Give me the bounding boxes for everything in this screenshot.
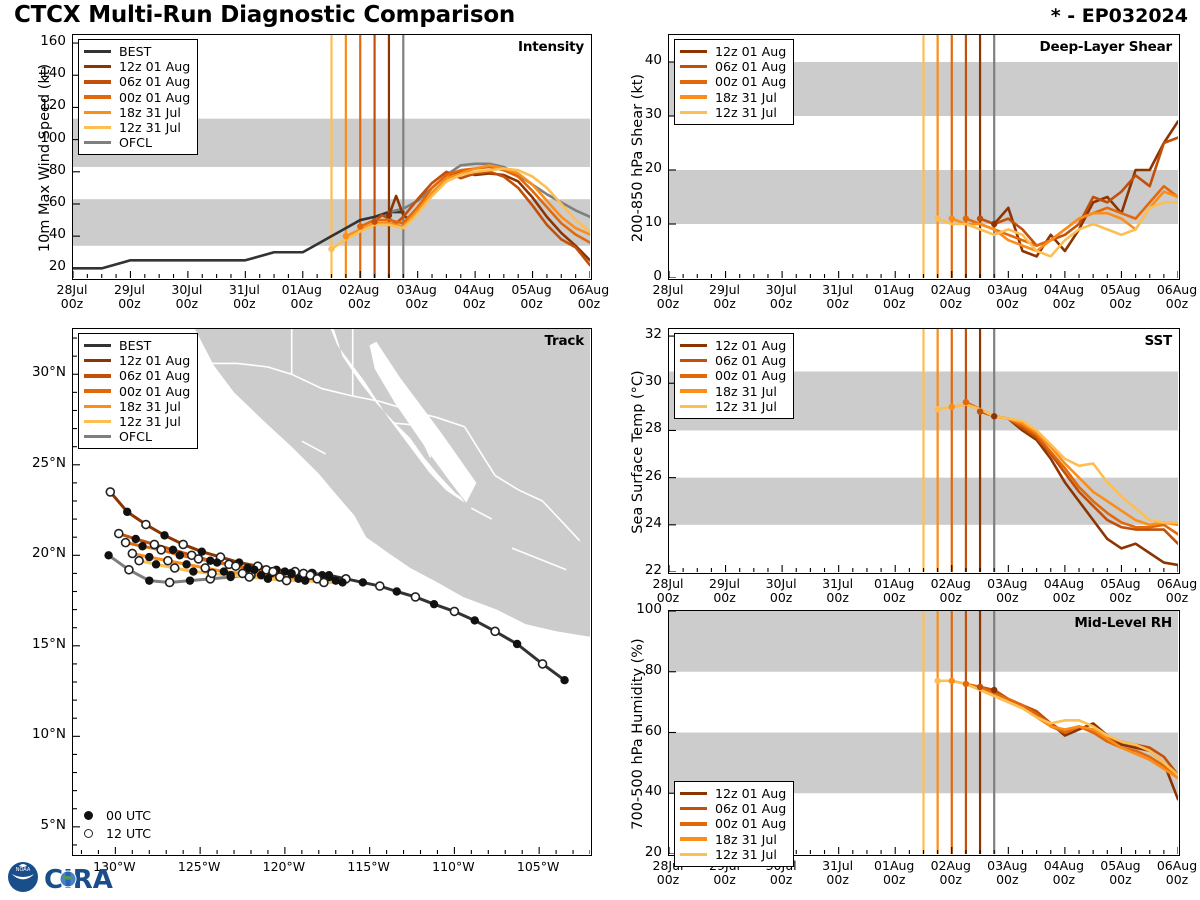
legend-item-18z-31-jul[interactable]: 18z 31 Jul <box>680 832 786 847</box>
track-point-00utc <box>560 676 568 684</box>
y-tick-label: 120 <box>14 97 66 113</box>
y-tick-label: 20 <box>14 258 66 274</box>
legend-item-12z-31-jul[interactable]: 12z 31 Jul <box>680 847 786 862</box>
series-init-point <box>357 223 363 229</box>
panel-title-rh: Mid-Level RH <box>1074 615 1172 631</box>
panel-title-track: Track <box>545 333 584 349</box>
track-point-00utc <box>471 616 479 624</box>
legend-item-18z-31-jul[interactable]: 18z 31 Jul <box>84 399 190 414</box>
track-point-12utc <box>208 569 216 577</box>
legend-swatch <box>680 359 707 362</box>
series-init-point <box>991 687 997 693</box>
legend-item-06z-01-aug[interactable]: 06z 01 Aug <box>84 368 190 383</box>
legend-item-12z-31-jul[interactable]: 12z 31 Jul <box>84 120 190 135</box>
y-tick-label: 80 <box>14 162 66 178</box>
legend-label: 12z 31 Jul <box>119 414 181 429</box>
legend-item-00z-01-aug[interactable]: 00z 01 Aug <box>84 90 190 105</box>
legend-item-12z-01-aug[interactable]: 12z 01 Aug <box>84 59 190 74</box>
legend-item-best[interactable]: BEST <box>84 44 190 59</box>
legend-label: BEST <box>119 338 151 353</box>
y-tick-label: 40 <box>610 783 662 799</box>
legend-label: 06z 01 Aug <box>715 59 786 74</box>
panel-title-sst: SST <box>1145 333 1172 349</box>
diagnostic-comparison-page: CTCX Multi-Run Diagnostic Comparison * -… <box>0 0 1200 900</box>
legend-item-12z-31-jul[interactable]: 12z 31 Jul <box>680 399 786 414</box>
legend-swatch <box>680 80 707 83</box>
legend-label: 18z 31 Jul <box>119 105 181 120</box>
legend-swatch <box>680 374 707 377</box>
y-tick-label: 24 <box>610 515 662 531</box>
series-init-point <box>963 215 969 221</box>
legend-label: 00z 01 Aug <box>715 74 786 89</box>
track-point-00utc <box>145 576 153 584</box>
legend-swatch <box>680 344 707 347</box>
legend-item-12z-31-jul[interactable]: 12z 31 Jul <box>680 105 786 120</box>
panel-title-shear: Deep-Layer Shear <box>1040 39 1172 55</box>
series-init-point <box>949 215 955 221</box>
legend-label: 12z 31 Jul <box>715 847 777 862</box>
legend-label: 18z 31 Jul <box>119 399 181 414</box>
axis-label-sst-y: Sea Surface Temp (°C) <box>630 332 646 572</box>
track-point-12utc <box>128 549 136 557</box>
legend-label: OFCL <box>119 429 152 444</box>
legend-item-12z-01-aug[interactable]: 12z 01 Aug <box>680 338 786 353</box>
legend-swatch <box>84 435 111 438</box>
legend-label: 18z 31 Jul <box>715 384 777 399</box>
track-point-00utc <box>430 600 438 608</box>
y-tick-label: 40 <box>610 52 662 68</box>
track-point-00utc <box>138 542 146 550</box>
series-init-point <box>977 215 983 221</box>
track-point-00utc <box>226 571 234 579</box>
legend-swatch <box>680 853 707 856</box>
y-tick-label: 20°N <box>4 545 66 561</box>
noaa-logo: NOAA <box>8 862 38 892</box>
legend-sst[interactable]: 12z 01 Aug06z 01 Aug00z 01 Aug18z 31 Jul… <box>674 333 794 419</box>
legend-label: 00z 01 Aug <box>119 384 190 399</box>
track-point-12utc <box>232 562 240 570</box>
track-point-00utc <box>338 578 346 586</box>
track-point-00utc <box>189 567 197 575</box>
track-point-12utc <box>539 660 547 668</box>
legend-shear[interactable]: 12z 01 Aug06z 01 Aug00z 01 Aug18z 31 Jul… <box>674 39 794 125</box>
legend-swatch <box>84 420 111 423</box>
series-init-point <box>343 233 349 239</box>
legend-item-12z-31-jul[interactable]: 12z 31 Jul <box>84 414 190 429</box>
legend-label: 00z 01 Aug <box>119 90 190 105</box>
axis-label-shear-y: 200-850 hPa Shear (kt) <box>630 38 646 278</box>
legend-swatch <box>84 374 111 377</box>
series-init-point <box>991 413 997 419</box>
track-point-00utc <box>104 551 112 559</box>
track-point-00utc <box>264 575 272 583</box>
series-init-point <box>328 246 334 252</box>
y-tick-label: 26 <box>610 468 662 484</box>
y-tick-label: 25°N <box>4 455 66 471</box>
legend-label: 18z 31 Jul <box>715 832 777 847</box>
svg-text:CIRA: CIRA <box>44 865 113 895</box>
legend-label: 12z 01 Aug <box>119 353 190 368</box>
track-point-12utc <box>135 557 143 565</box>
legend-swatch <box>84 111 111 114</box>
series-init-point <box>949 678 955 684</box>
track-point-12utc <box>283 577 291 585</box>
legend-track[interactable]: BEST12z 01 Aug06z 01 Aug00z 01 Aug18z 31… <box>78 333 198 449</box>
legend-item-18z-31-jul[interactable]: 18z 31 Jul <box>84 105 190 120</box>
legend-item-00z-01-aug[interactable]: 00z 01 Aug <box>680 816 786 831</box>
legend-label: 18z 31 Jul <box>715 90 777 105</box>
x-tick-label: 120°W <box>250 860 318 874</box>
legend-label: 12z 31 Jul <box>715 105 777 120</box>
track-point-00utc <box>169 546 177 554</box>
legend-swatch <box>84 95 111 98</box>
series-init-point <box>991 221 997 227</box>
y-tick-label: 20 <box>610 160 662 176</box>
track-point-00utc <box>152 560 160 568</box>
track-point-00utc <box>145 553 153 561</box>
track-point-00utc <box>176 551 184 559</box>
legend-label: 00z 01 Aug <box>715 368 786 383</box>
legend-item-18z-31-jul[interactable]: 18z 31 Jul <box>680 90 786 105</box>
marker-legend-item-12-utc: 12 UTC <box>82 824 151 842</box>
series-init-point <box>977 408 983 414</box>
legend-swatch <box>680 111 707 114</box>
legend-label: 06z 01 Aug <box>715 801 786 816</box>
legend-swatch <box>84 50 111 53</box>
marker-legend-label: 00 UTC <box>106 808 151 823</box>
x-tick-label: 06Aug00z <box>1143 283 1200 312</box>
legend-item-00z-01-aug[interactable]: 00z 01 Aug <box>84 384 190 399</box>
x-tick-label: 06Aug00z <box>1143 577 1200 606</box>
x-tick-label: 105°W <box>504 860 572 874</box>
panel-title-intensity: Intensity <box>518 39 584 55</box>
track-point-00utc <box>250 566 258 574</box>
track-point-12utc <box>164 557 172 565</box>
legend-swatch <box>84 344 111 347</box>
legend-label: 06z 01 Aug <box>119 74 190 89</box>
series-init-point <box>371 218 377 224</box>
y-tick-label: 30 <box>610 106 662 122</box>
track-point-12utc <box>376 582 384 590</box>
legend-label: BEST <box>119 44 151 59</box>
x-tick-label: 06Aug00z <box>1143 859 1200 888</box>
cira-logo: CIRA <box>44 865 113 895</box>
y-tick-label: 5°N <box>4 817 66 833</box>
legend-item-12z-01-aug[interactable]: 12z 01 Aug <box>680 786 786 801</box>
legend-label: 00z 01 Aug <box>715 816 786 831</box>
legend-swatch <box>680 95 707 98</box>
y-tick-label: 30°N <box>4 364 66 380</box>
y-tick-label: 140 <box>14 65 66 81</box>
track-point-12utc <box>491 627 499 635</box>
x-tick-label: 115°W <box>335 860 403 874</box>
series-init-point <box>949 404 955 410</box>
legend-swatch <box>84 141 111 144</box>
track-point-00utc <box>513 640 521 648</box>
legend-item-06z-01-aug[interactable]: 06z 01 Aug <box>680 801 786 816</box>
track-point-12utc <box>450 607 458 615</box>
series-init-point <box>934 678 940 684</box>
marker-legend-item-00-utc: 00 UTC <box>82 806 151 824</box>
legend-item-18z-31-jul[interactable]: 18z 31 Jul <box>680 384 786 399</box>
x-tick-label: 06Aug00z <box>555 283 623 312</box>
series-init-point <box>934 406 940 412</box>
legend-item-12z-01-aug[interactable]: 12z 01 Aug <box>680 44 786 59</box>
track-point-00utc <box>213 558 221 566</box>
track-point-00utc <box>359 578 367 586</box>
track-point-00utc <box>132 535 140 543</box>
y-tick-label: 100 <box>14 130 66 146</box>
legend-item-12z-01-aug[interactable]: 12z 01 Aug <box>84 353 190 368</box>
legend-swatch <box>84 359 111 362</box>
track-point-12utc <box>115 530 123 538</box>
track-point-12utc <box>194 555 202 563</box>
track-point-12utc <box>411 593 419 601</box>
track-point-12utc <box>320 578 328 586</box>
legend-label: 06z 01 Aug <box>119 368 190 383</box>
legend-track-markers: 00 UTC12 UTC <box>82 806 151 842</box>
track-point-12utc <box>179 540 187 548</box>
y-tick-label: 15°N <box>4 636 66 652</box>
marker-open-icon <box>84 829 93 838</box>
track-point-12utc <box>125 566 133 574</box>
legend-swatch <box>84 389 111 392</box>
legend-item-06z-01-aug[interactable]: 06z 01 Aug <box>84 74 190 89</box>
track-point-00utc <box>186 576 194 584</box>
y-tick-label: 30 <box>610 373 662 389</box>
legend-swatch <box>680 389 707 392</box>
marker-filled-icon <box>84 811 93 820</box>
x-tick-label: 125°W <box>165 860 233 874</box>
legend-item-06z-01-aug[interactable]: 06z 01 Aug <box>680 353 786 368</box>
storm-id-label: * - EP032024 <box>1051 5 1188 27</box>
legend-intensity[interactable]: BEST12z 01 Aug06z 01 Aug00z 01 Aug18z 31… <box>78 39 198 155</box>
legend-label: OFCL <box>119 135 152 150</box>
series-init-point <box>963 681 969 687</box>
y-tick-label: 32 <box>610 326 662 342</box>
track-point-12utc <box>122 539 130 547</box>
legend-swatch <box>680 50 707 53</box>
legend-swatch <box>680 837 707 840</box>
legend-item-06z-01-aug[interactable]: 06z 01 Aug <box>680 59 786 74</box>
track-point-00utc <box>301 576 309 584</box>
legend-item-00z-01-aug[interactable]: 00z 01 Aug <box>680 368 786 383</box>
legend-swatch <box>680 65 707 68</box>
track-point-00utc <box>182 560 190 568</box>
track-point-00utc <box>160 531 168 539</box>
legend-item-ofcl[interactable]: OFCL <box>84 429 190 444</box>
legend-swatch <box>84 126 111 129</box>
track-point-00utc <box>123 508 131 516</box>
legend-swatch <box>680 822 707 825</box>
legend-swatch <box>84 405 111 408</box>
track-point-12utc <box>245 573 253 581</box>
y-tick-label: 100 <box>610 601 662 617</box>
y-tick-label: 40 <box>14 226 66 242</box>
y-tick-label: 60 <box>14 194 66 210</box>
legend-label: 12z 31 Jul <box>715 399 777 414</box>
series-init-point <box>934 215 940 221</box>
legend-swatch <box>680 792 707 795</box>
legend-label: 12z 01 Aug <box>715 786 786 801</box>
track-point-00utc <box>393 587 401 595</box>
legend-swatch <box>84 80 111 83</box>
y-tick-label: 10 <box>610 214 662 230</box>
y-tick-label: 10°N <box>4 726 66 742</box>
legend-swatch <box>680 405 707 408</box>
svg-text:NOAA: NOAA <box>16 867 31 873</box>
track-point-00utc <box>287 569 295 577</box>
track-point-12utc <box>142 521 150 529</box>
legend-label: 12z 01 Aug <box>119 59 190 74</box>
track-point-12utc <box>166 578 174 586</box>
legend-label: 12z 01 Aug <box>715 338 786 353</box>
series-init-point <box>977 684 983 690</box>
legend-label: 12z 01 Aug <box>715 44 786 59</box>
y-tick-label: 60 <box>610 723 662 739</box>
legend-label: 06z 01 Aug <box>715 353 786 368</box>
track-point-12utc <box>171 564 179 572</box>
track-point-12utc <box>106 488 114 496</box>
y-tick-label: 28 <box>610 420 662 436</box>
track-point-12utc <box>157 546 165 554</box>
legend-swatch <box>680 807 707 810</box>
legend-item-00z-01-aug[interactable]: 00z 01 Aug <box>680 74 786 89</box>
branding-logos: NOAA CIRA <box>6 856 134 898</box>
legend-item-best[interactable]: BEST <box>84 338 190 353</box>
legend-rh[interactable]: 12z 01 Aug06z 01 Aug00z 01 Aug18z 31 Jul… <box>674 781 794 867</box>
marker-legend-label: 12 UTC <box>106 826 151 841</box>
legend-swatch <box>84 65 111 68</box>
y-tick-label: 160 <box>14 33 66 49</box>
page-title: CTCX Multi-Run Diagnostic Comparison <box>14 2 515 28</box>
x-tick-label: 110°W <box>419 860 487 874</box>
y-tick-label: 80 <box>610 662 662 678</box>
legend-item-ofcl[interactable]: OFCL <box>84 135 190 150</box>
series-init-point <box>386 212 392 218</box>
series-init-point <box>963 399 969 405</box>
legend-label: 12z 31 Jul <box>119 120 181 135</box>
